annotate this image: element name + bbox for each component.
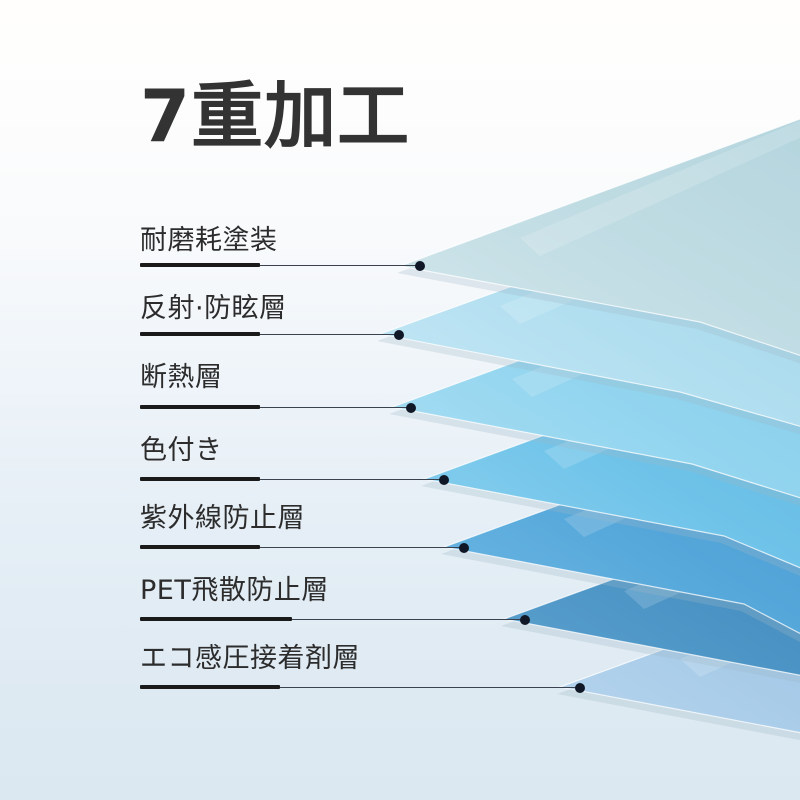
callout-dot-3[interactable] [406,403,416,413]
layer-label-7: エコ感圧接着剤層 [140,644,360,674]
label-underline-1 [140,263,260,267]
layer-label-6: PET飛散防止層 [140,576,329,606]
label-underline-3 [140,405,260,409]
layer-label-1: 耐磨耗塗装 [140,226,278,256]
layer-label-3: 断熱層 [140,363,223,393]
layer-label-2: 反射·防眩層 [140,294,287,324]
label-underline-5 [140,545,260,549]
callout-dot-7[interactable] [575,683,585,693]
label-underline-7 [140,685,280,689]
callout-dot-1[interactable] [415,261,425,271]
callout-dot-2[interactable] [394,330,404,340]
infographic-canvas: 7重加工 耐磨耗塗装反射·防眩層断熱層色付き紫外線防止層PET飛散防止層エコ感圧… [0,0,800,800]
label-underline-6 [140,617,292,621]
page-title: 7重加工 [140,76,410,156]
label-underline-4 [140,477,260,481]
layer-label-5: 紫外線防止層 [140,504,305,534]
layer-label-4: 色付き [140,436,223,466]
callout-dot-5[interactable] [459,543,469,553]
callout-dot-4[interactable] [439,475,449,485]
label-underline-2 [140,332,260,336]
callout-dot-6[interactable] [520,615,530,625]
